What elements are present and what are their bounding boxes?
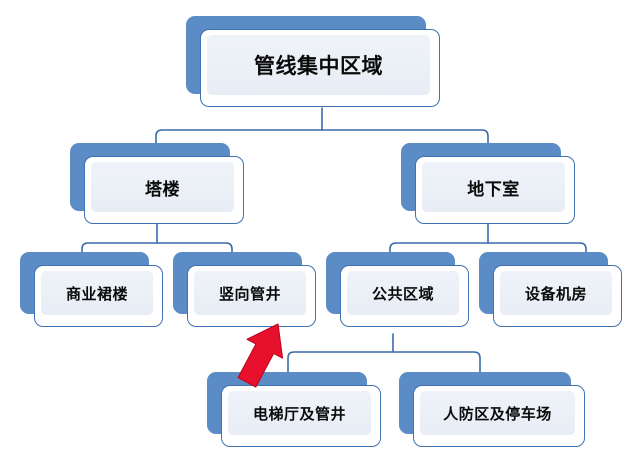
node-label: 管线集中区域	[254, 50, 383, 80]
node-inner: 电梯厅及管井	[228, 391, 371, 435]
node-public-area[interactable]: 公共区域	[326, 252, 455, 314]
node-inner: 竖向管井	[194, 271, 306, 315]
node-root[interactable]: 管线集中区域	[186, 16, 426, 94]
node-lift-hall-and-riser[interactable]: 电梯厅及管井	[207, 372, 367, 434]
node-label: 人防区及停车场	[443, 403, 552, 424]
node-label: 设备机房	[525, 283, 587, 304]
node-inner: 公共区域	[347, 271, 459, 315]
node-inner: 人防区及停车场	[420, 391, 575, 435]
node-equipment-room[interactable]: 设备机房	[479, 252, 608, 314]
node-card: 竖向管井	[187, 265, 316, 327]
node-inner: 商业裙楼	[41, 271, 153, 315]
connector-public-to-children	[288, 352, 480, 372]
node-card: 地下室	[415, 156, 575, 224]
node-label: 公共区域	[372, 283, 434, 304]
node-tower[interactable]: 塔楼	[70, 143, 230, 211]
node-label: 竖向管井	[219, 283, 281, 304]
node-card: 人防区及停车场	[413, 385, 585, 447]
node-label: 电梯厅及管井	[253, 403, 346, 424]
node-label: 塔楼	[145, 175, 180, 200]
node-card: 塔楼	[84, 156, 244, 224]
node-inner: 设备机房	[500, 271, 612, 315]
diagram-canvas: 管线集中区域 塔楼 地下室 商业裙楼	[0, 0, 640, 474]
node-card: 公共区域	[340, 265, 469, 327]
node-card: 管线集中区域	[200, 29, 440, 107]
node-shelter-and-parking[interactable]: 人防区及停车场	[399, 372, 571, 434]
node-card: 电梯厅及管井	[221, 385, 381, 447]
node-commercial-podium[interactable]: 商业裙楼	[20, 252, 149, 314]
node-card: 设备机房	[493, 265, 622, 327]
node-label: 商业裙楼	[66, 283, 128, 304]
node-inner: 地下室	[422, 162, 565, 212]
node-inner: 管线集中区域	[207, 35, 430, 95]
node-vertical-riser[interactable]: 竖向管井	[173, 252, 302, 314]
node-inner: 塔楼	[91, 162, 234, 212]
node-basement[interactable]: 地下室	[401, 143, 561, 211]
node-label: 地下室	[467, 175, 520, 200]
node-card: 商业裙楼	[34, 265, 163, 327]
